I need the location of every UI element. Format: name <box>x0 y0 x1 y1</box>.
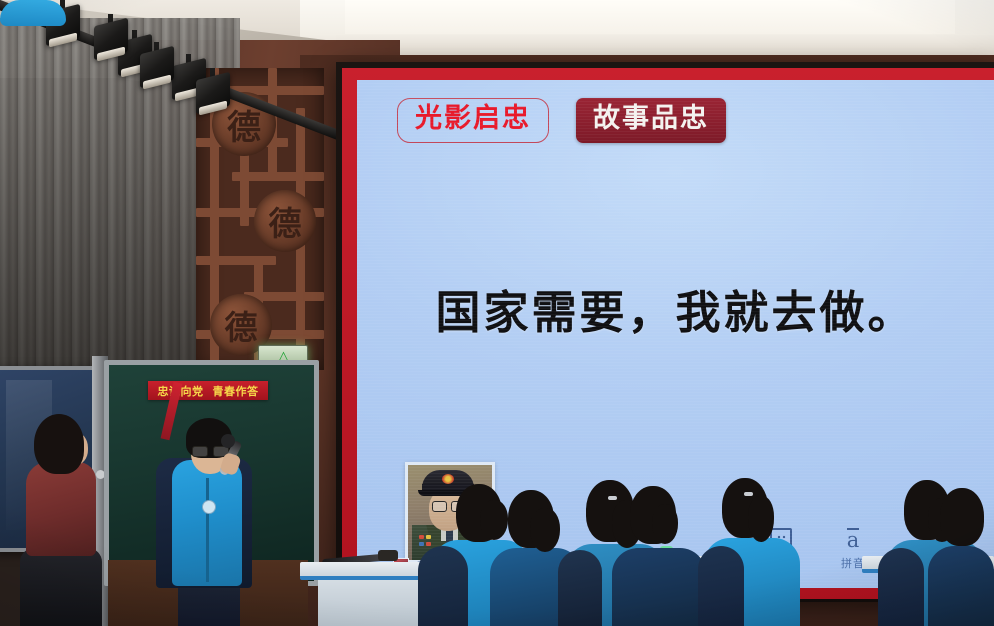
student-presenter <box>0 0 66 26</box>
slide-badge-outline: 光影启忠 <box>397 98 549 143</box>
slide-badge-solid: 故事品忠 <box>576 98 726 143</box>
teacher-skirt <box>20 548 102 626</box>
presenter-zipper <box>206 478 209 582</box>
blackboard-banner: 忠诚向党 青春作答 <box>148 381 268 400</box>
slide-badge-row: 光影启忠 故事品忠 <box>397 98 726 143</box>
ceiling-recess-inner <box>345 0 955 34</box>
teacher-top <box>26 462 96 556</box>
podium-object <box>378 550 398 561</box>
spotlight-6 <box>196 76 230 118</box>
pinyin-a-icon: a <box>842 528 864 550</box>
microphone-head <box>221 434 235 448</box>
spotlight-5 <box>140 50 174 92</box>
spotlight-4 <box>94 22 128 64</box>
presenter-glasses <box>192 446 228 456</box>
medallion-de-2: 德 <box>254 190 316 252</box>
slide-slogan: 国家需要，我就去做。 <box>357 276 994 341</box>
presenter-hood <box>0 0 66 26</box>
banner-text-right: 青春作答 <box>213 383 259 399</box>
teacher-hair <box>34 414 84 474</box>
classroom-scene: 德 德 德 △ 光影启忠 故事品忠 国家需要，我就去做。 <box>0 0 994 626</box>
presenter-badge <box>202 500 216 514</box>
